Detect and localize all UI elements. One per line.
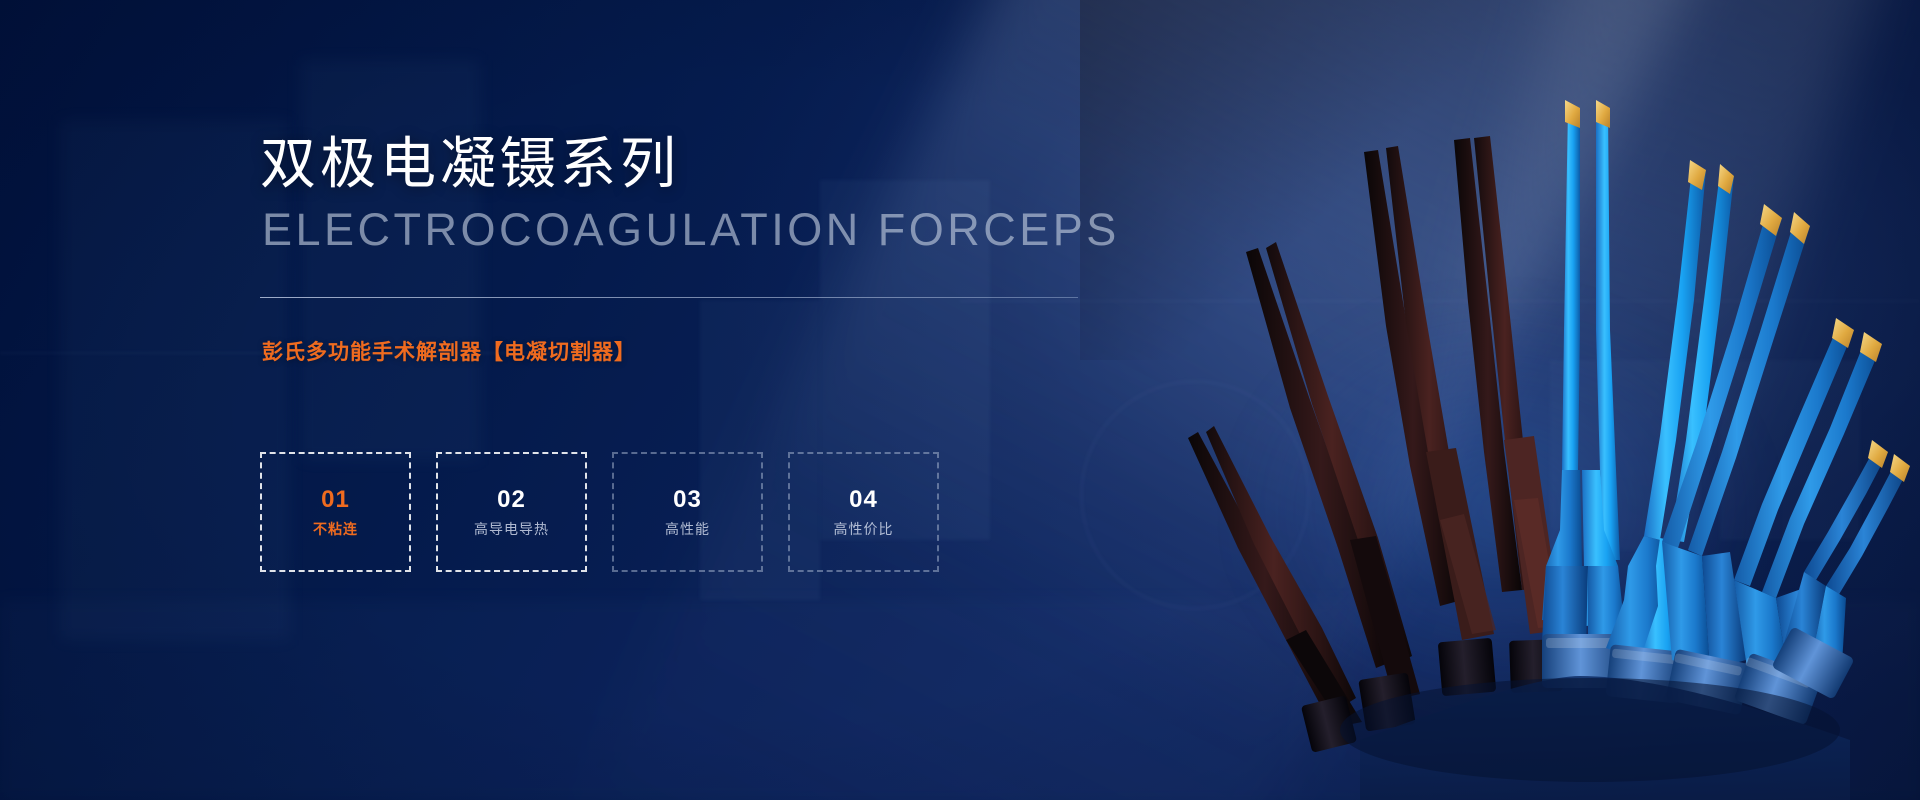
feature-card-02[interactable]: 02 高导电导热 [436,452,587,572]
page-title: 双极电凝镊系列 [260,135,680,194]
feature-label: 高性能 [665,522,710,536]
feature-number: 04 [849,488,878,512]
feature-number: 02 [497,488,526,512]
feature-number: 03 [673,488,702,512]
feature-number: 01 [321,488,350,512]
divider [260,297,1078,298]
feature-list: 01 不粘连 02 高导电导热 03 高性能 04 高性价比 [260,452,939,572]
product-subtitle: 彭氏多功能手术解剖器【电凝切割器】 [262,336,636,366]
feature-card-03[interactable]: 03 高性能 [612,452,763,572]
feature-card-04[interactable]: 04 高性价比 [788,452,939,572]
bg-blur-shape [60,120,290,640]
feature-label: 不粘连 [313,522,358,536]
feature-label: 高导电导热 [474,522,549,536]
product-banner: 双极电凝镊系列 ELECTROCOAGULATION FORCEPS 彭氏多功能… [0,0,1920,800]
page-subtitle-en: ELECTROCOAGULATION FORCEPS [262,206,1120,253]
feature-card-01[interactable]: 01 不粘连 [260,452,411,572]
banner-content: 双极电凝镊系列 ELECTROCOAGULATION FORCEPS 彭氏多功能… [260,0,1160,800]
feature-label: 高性价比 [834,522,894,536]
